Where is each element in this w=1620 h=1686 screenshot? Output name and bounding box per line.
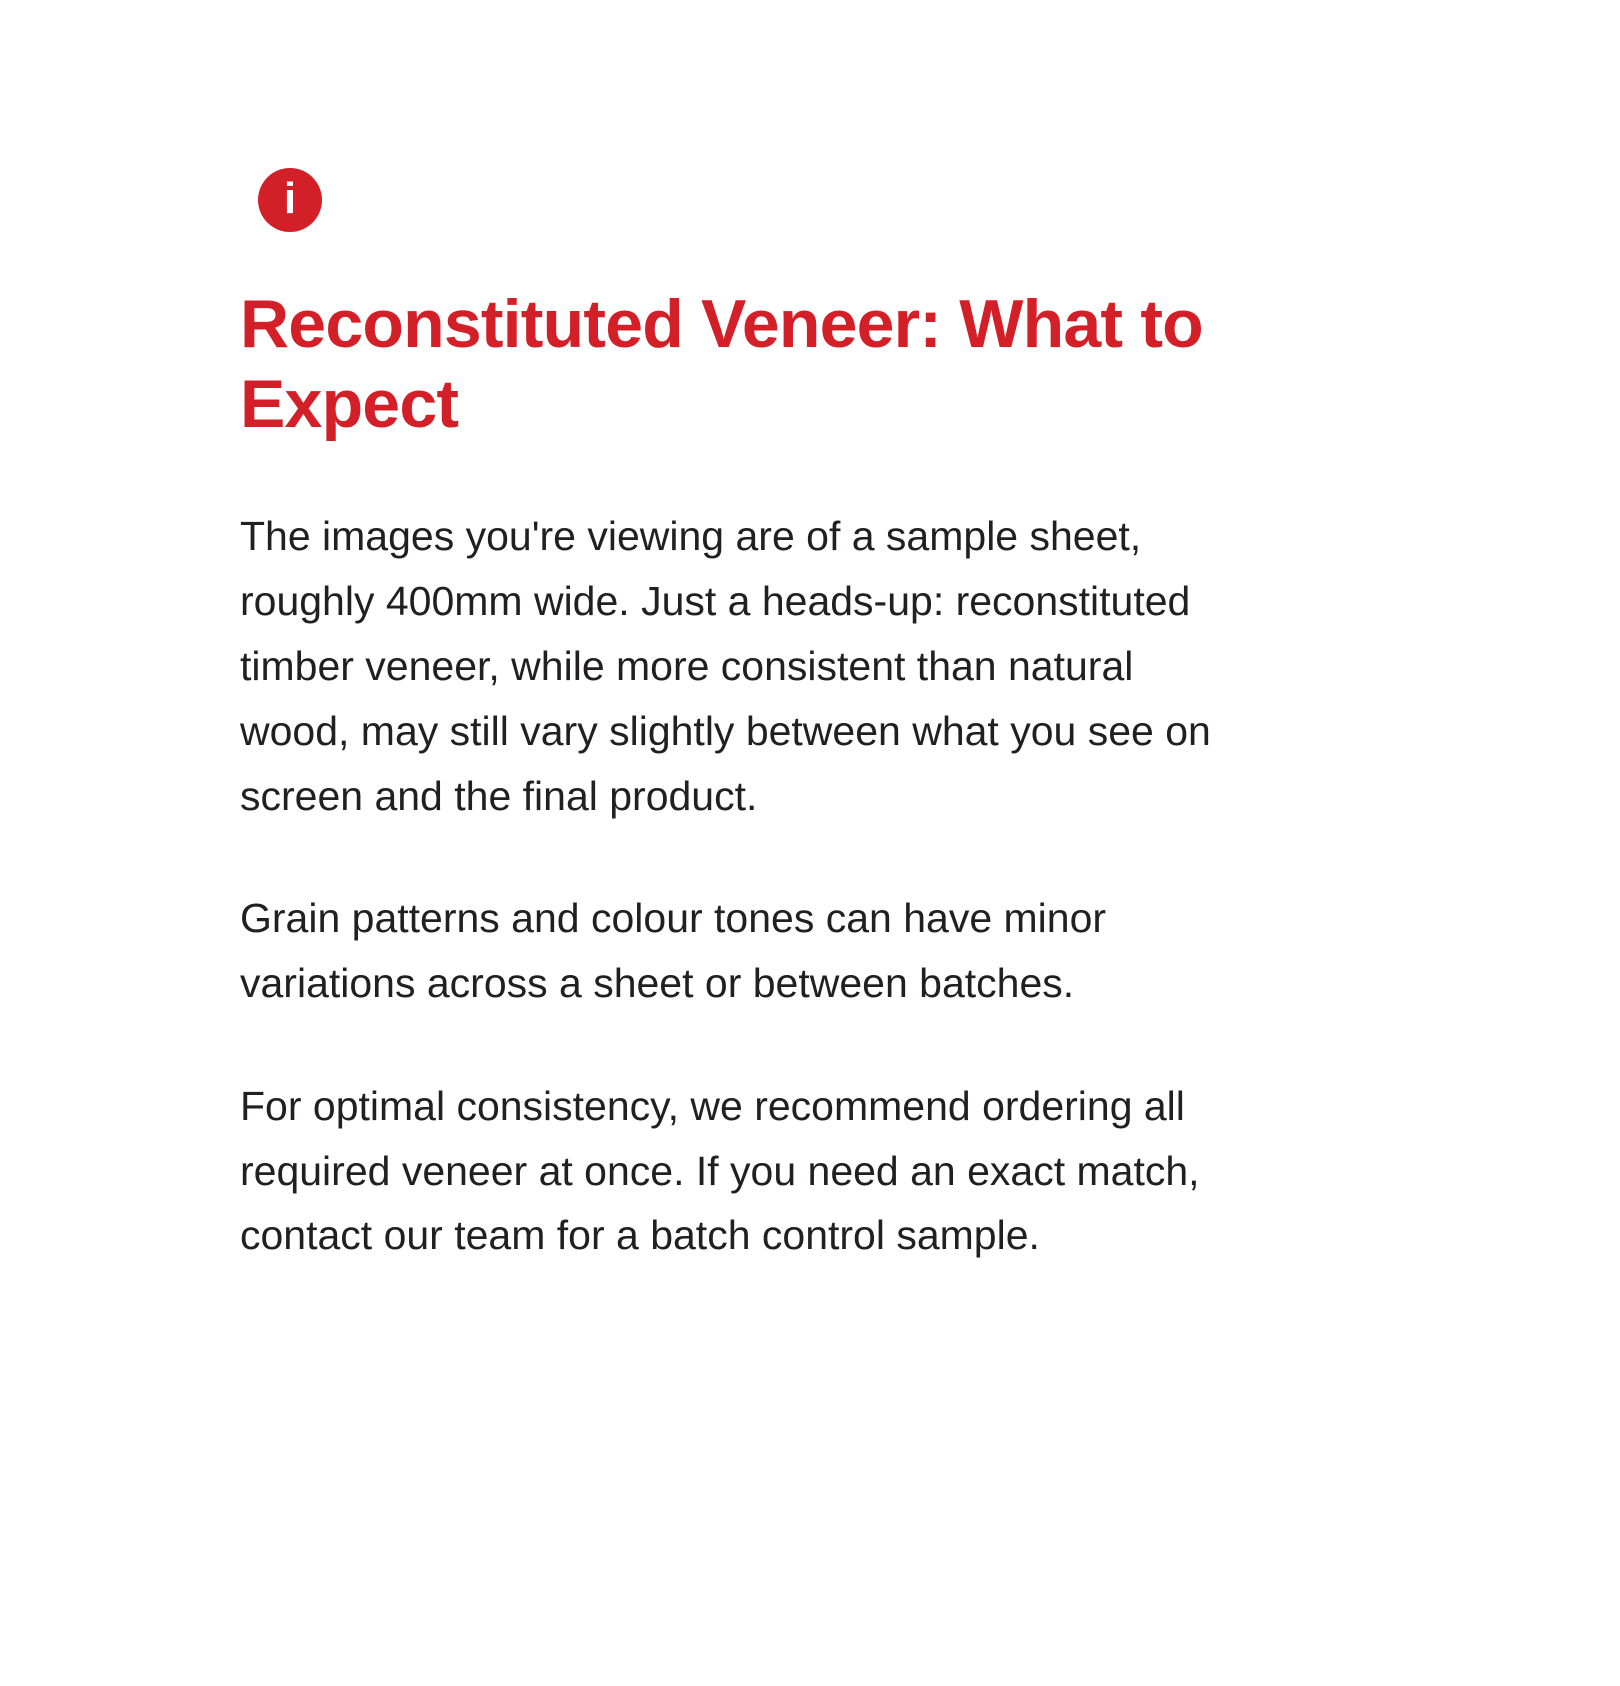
page-title: Reconstituted Veneer: What to Expect [240, 232, 1240, 444]
reconstituted-veneer-notice: i Reconstituted Veneer: What to Expect T… [240, 0, 1250, 1268]
notice-paragraph-3: For optimal consistency, we recommend or… [240, 1074, 1240, 1268]
info-icon: i [258, 168, 322, 232]
info-icon-glyph: i [284, 177, 296, 221]
notice-body: The images you're viewing are of a sampl… [240, 444, 1250, 1268]
notice-paragraph-1: The images you're viewing are of a sampl… [240, 504, 1240, 828]
notice-paragraph-2: Grain patterns and colour tones can have… [240, 886, 1240, 1016]
